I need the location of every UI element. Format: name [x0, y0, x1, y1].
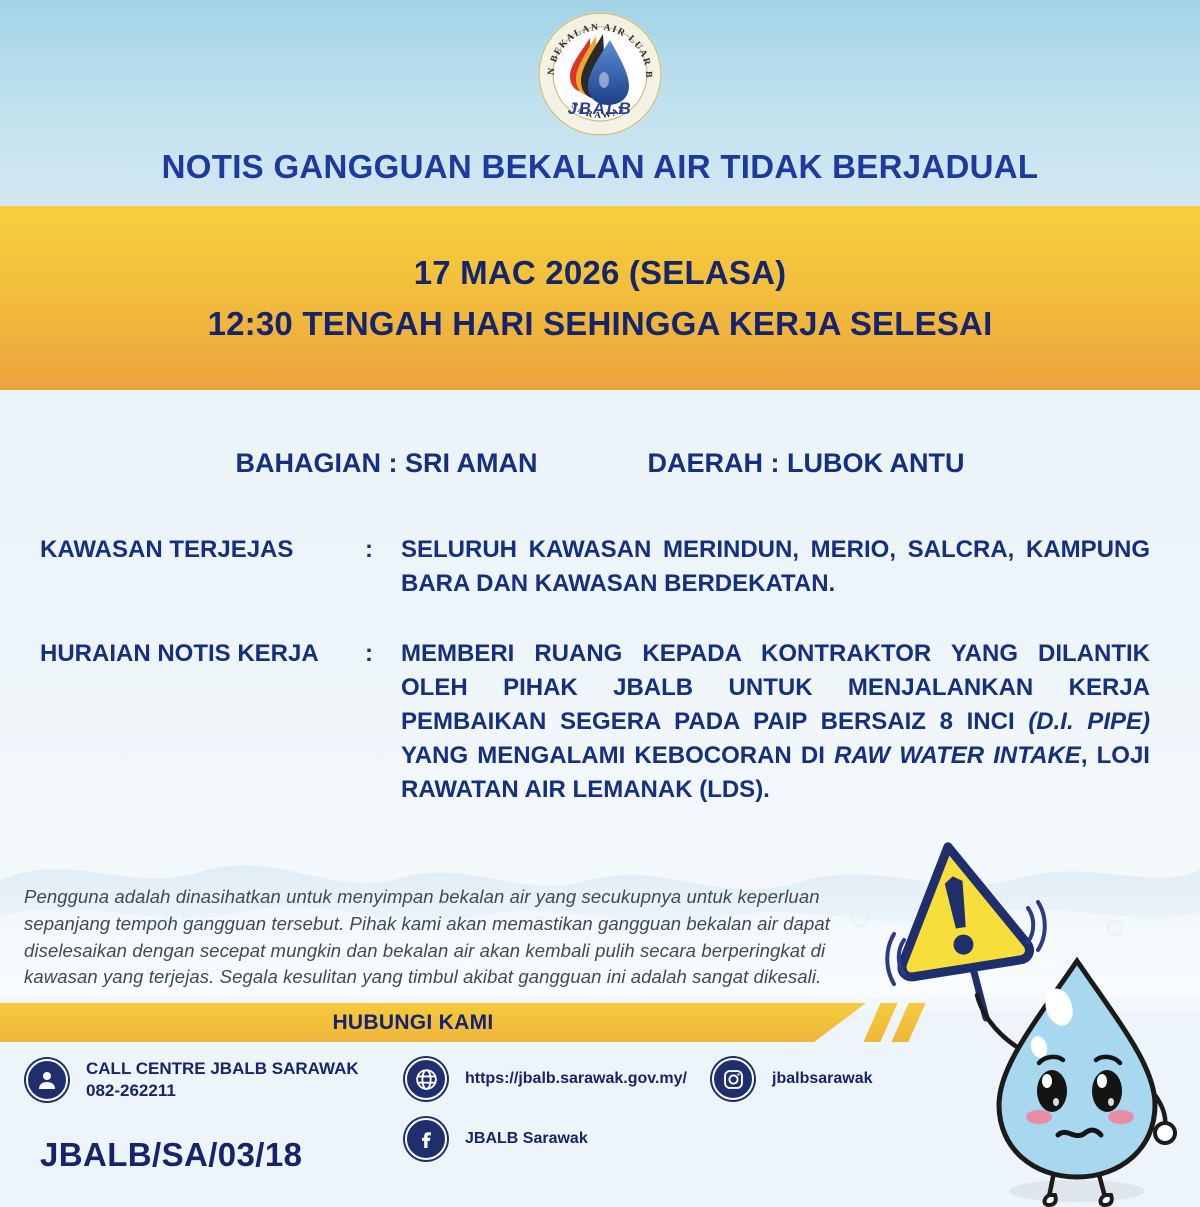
- colon-separator: :: [365, 533, 401, 567]
- website-url: https://jbalb.sarawak.gov.my/: [465, 1070, 687, 1088]
- contact-call-centre[interactable]: CALL CENTRE JBALB SARAWAK 082-262211: [26, 1058, 359, 1102]
- work-description-label: HURAIAN NOTIS KERJA: [40, 637, 365, 671]
- affected-area-value: SELURUH KAWASAN MERINDUN, MERIO, SALCRA,…: [401, 533, 1150, 601]
- region-info: BAHAGIAN : SRI AMAN DAERAH : LUBOK ANTU: [0, 448, 1200, 479]
- instagram-icon: [712, 1058, 754, 1100]
- district-label: DAERAH : LUBOK ANTU: [648, 448, 965, 479]
- contact-facebook[interactable]: JBALB Sarawak: [405, 1118, 588, 1160]
- detail-row-work-description: HURAIAN NOTIS KERJA : MEMBERI RUANG KEPA…: [40, 637, 1150, 807]
- water-disruption-notice-poster: 17 MAC 2026 (SELASA) 12:30 TENGAH HARI S…: [0, 0, 1200, 1207]
- call-centre-number: 082-262211: [86, 1080, 359, 1102]
- notice-details: KAWASAN TERJEJAS : SELURUH KAWASAN MERIN…: [40, 533, 1150, 844]
- reference-number: JBALB/SA/03/18: [40, 1136, 302, 1174]
- division-label: BAHAGIAN : SRI AMAN: [236, 448, 538, 479]
- notice-time: 12:30 TENGAH HARI SEHINGGA KERJA SELESAI: [208, 305, 993, 343]
- page-title: NOTIS GANGGUAN BEKALAN AIR TIDAK BERJADU…: [0, 148, 1200, 186]
- svg-text:JBALB: JBALB: [568, 99, 633, 118]
- detail-row-affected-area: KAWASAN TERJEJAS : SELURUH KAWASAN MERIN…: [40, 533, 1150, 601]
- contact-bar-title: HUBUNGI KAMI: [332, 1011, 493, 1035]
- globe-icon: [405, 1058, 447, 1100]
- notice-date: 17 MAC 2026 (SELASA): [414, 254, 787, 292]
- jbalb-logo: JABATAN BEKALAN AIR LUAR BANDAR SARAWAK …: [534, 8, 666, 140]
- facebook-page: JBALB Sarawak: [465, 1130, 588, 1148]
- advisory-paragraph: Pengguna adalah dinasihatkan untuk menyi…: [24, 884, 854, 991]
- colon-separator: :: [365, 637, 401, 671]
- call-centre-name: CALL CENTRE JBALB SARAWAK: [86, 1058, 359, 1080]
- contact-website[interactable]: https://jbalb.sarawak.gov.my/: [405, 1058, 687, 1100]
- water-droplet-mascot: [955, 955, 1200, 1207]
- logo-container: JABATAN BEKALAN AIR LUAR BANDAR SARAWAK …: [0, 8, 1200, 140]
- work-description-value: MEMBERI RUANG KEPADA KONTRAKTOR YANG DIL…: [401, 637, 1150, 807]
- affected-area-label: KAWASAN TERJEJAS: [40, 533, 365, 567]
- date-time-band: 17 MAC 2026 (SELASA) 12:30 TENGAH HARI S…: [0, 206, 1200, 390]
- contact-instagram[interactable]: jbalbsarawak: [712, 1058, 873, 1100]
- facebook-icon: [405, 1118, 447, 1160]
- person-icon: [26, 1059, 68, 1101]
- contact-bar: HUBUNGI KAMI: [0, 1003, 866, 1042]
- instagram-handle: jbalbsarawak: [772, 1070, 873, 1088]
